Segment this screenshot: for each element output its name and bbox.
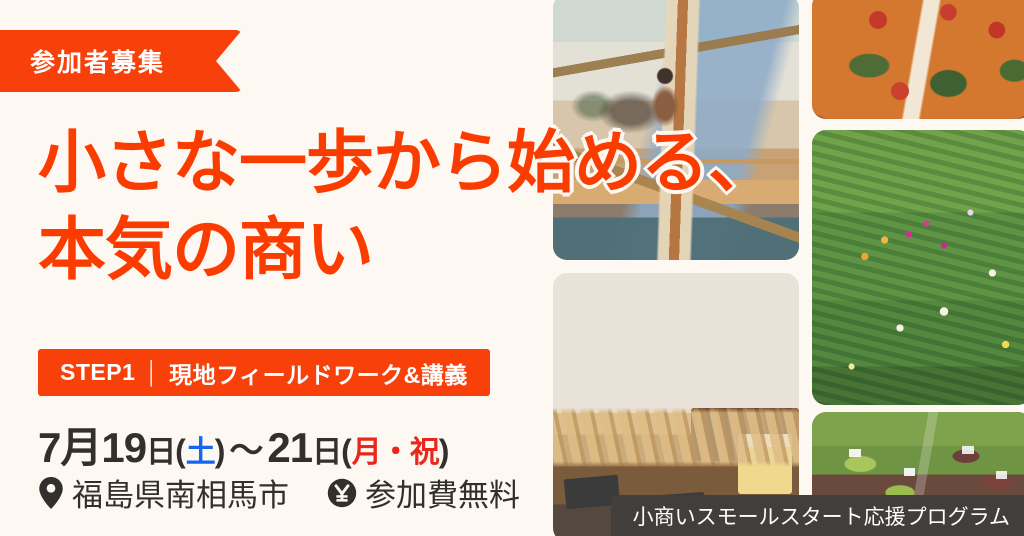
- fee-info: 参加費無料: [327, 470, 520, 515]
- date-day-unit-end: 日: [312, 427, 341, 471]
- promo-banner: 参加者募集 小さな一歩から始める、 本気の商い STEP1 │ 現地フィールドワ…: [0, 0, 1024, 536]
- date-paren-open-2: (: [341, 433, 352, 470]
- date-paren-open-1: (: [175, 433, 186, 470]
- cake-slice: [738, 434, 792, 493]
- pizza-photo: [812, 0, 1024, 119]
- date-paren-close-2: ): [439, 433, 450, 470]
- date-range-mark: 〜: [225, 423, 267, 472]
- craft-market-photo: [553, 0, 799, 260]
- event-info: 福島県南相馬市 参加費無料: [38, 470, 520, 515]
- recruitment-badge-label: 参加者募集: [30, 43, 165, 79]
- step-separator: │: [145, 360, 159, 386]
- event-date: 7月 19 日 ( 土 ) 〜 21 日 ( 月・祝 ): [38, 414, 449, 475]
- step-bar: STEP1 │ 現地フィールドワーク&講義: [38, 349, 490, 396]
- date-day-unit-start: 日: [146, 427, 175, 471]
- date-weekday-start: 土: [186, 427, 215, 471]
- date-day-end: 21: [267, 424, 312, 472]
- program-ribbon: 小商いスモールスタート応援プログラム: [611, 495, 1024, 536]
- recruitment-badge: 参加者募集: [0, 30, 242, 92]
- location-pin-icon: [38, 477, 64, 509]
- location-info: 福島県南相馬市: [38, 470, 289, 515]
- bread-slab: [691, 408, 799, 462]
- step-number-label: STEP1: [60, 359, 135, 386]
- photo-collage: [545, 0, 1024, 536]
- date-month: 7月: [38, 414, 101, 475]
- yen-circle-icon: [327, 478, 357, 508]
- step-title: 現地フィールドワーク&講義: [169, 356, 468, 390]
- date-day-start: 19: [101, 424, 146, 472]
- date-weekday-end: 月・祝: [352, 427, 439, 471]
- program-ribbon-label: 小商いスモールスタート応援プログラム: [633, 501, 1010, 531]
- flower-market-photo: [812, 130, 1024, 405]
- date-paren-close-1: ): [215, 433, 226, 470]
- location-text: 福島県南相馬市: [72, 470, 289, 515]
- fee-text: 参加費無料: [365, 470, 520, 515]
